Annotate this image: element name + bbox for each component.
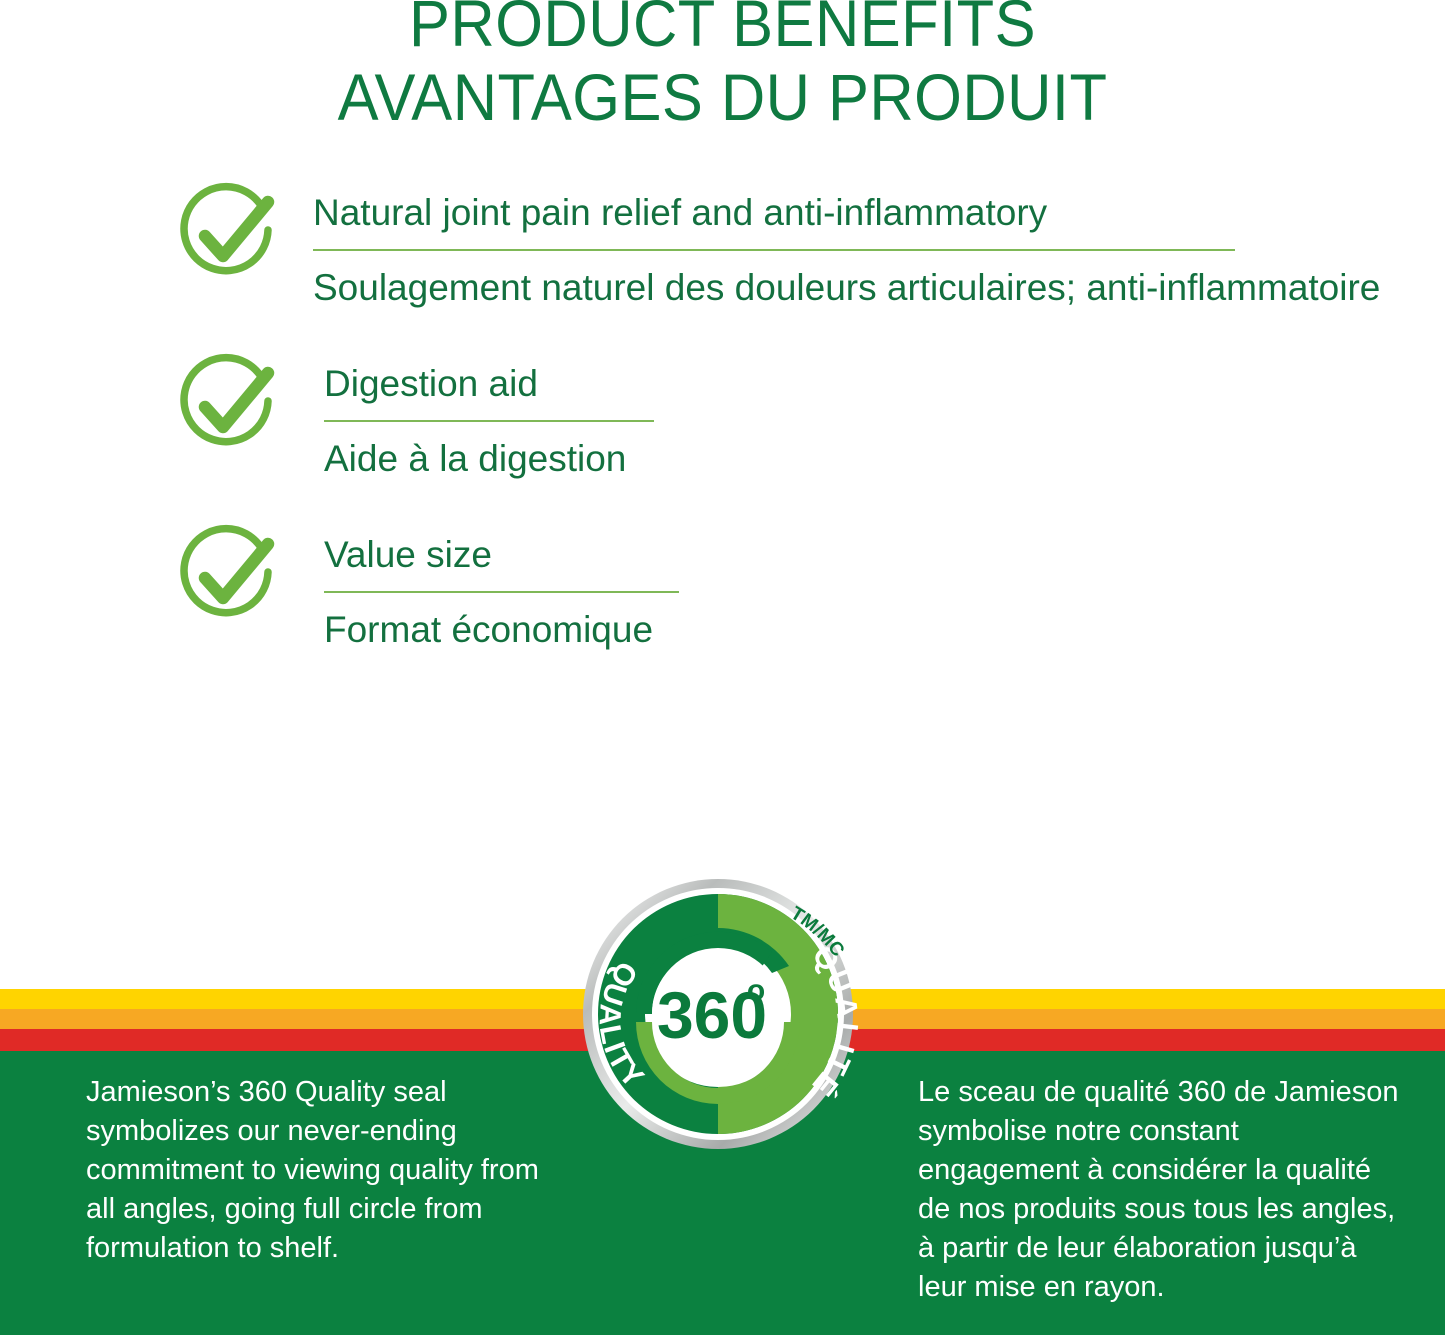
benefit-text: Digestion aid Aide à la digestion <box>284 351 1445 484</box>
benefit-label-fr: Format économique <box>324 605 1445 655</box>
benefit-item: Natural joint pain relief and anti-infla… <box>0 180 1445 313</box>
benefits-list: Natural joint pain relief and anti-infla… <box>0 180 1445 673</box>
quality-360-seal: 360 o QUALITY QUALITÉ TM/MC <box>576 872 860 1156</box>
product-benefits-panel: PRODUCT BENEFITS AVANTAGES DU PRODUIT Na… <box>0 0 1445 1335</box>
benefit-divider <box>324 591 679 593</box>
benefit-label-fr: Aide à la digestion <box>324 434 1445 484</box>
benefit-divider <box>313 249 1235 251</box>
benefit-label-fr: Soulagement naturel des douleurs articul… <box>313 263 1445 313</box>
benefit-label-en: Natural joint pain relief and anti-infla… <box>313 190 1445 236</box>
seal-degree-symbol: o <box>747 974 765 1007</box>
seal-description-en: Jamieson’s 360 Quality seal symbolizes o… <box>86 1073 566 1268</box>
title-line-fr: AVANTAGES DU PRODUIT <box>51 60 1395 134</box>
check-circle-icon <box>176 524 284 632</box>
benefit-text: Natural joint pain relief and anti-infla… <box>284 180 1445 313</box>
check-circle-icon <box>176 353 284 461</box>
benefit-label-en: Digestion aid <box>324 361 1445 407</box>
seal-description-fr: Le sceau de qualité 360 de Jamieson symb… <box>918 1073 1408 1307</box>
benefit-divider <box>324 420 654 422</box>
check-circle-icon <box>176 182 284 290</box>
page-title: PRODUCT BENEFITS AVANTAGES DU PRODUIT <box>0 0 1445 134</box>
title-line-en: PRODUCT BENEFITS <box>51 0 1395 60</box>
benefit-label-en: Value size <box>324 532 1445 578</box>
benefit-item: Value size Format économique <box>0 522 1445 655</box>
benefit-text: Value size Format économique <box>284 522 1445 655</box>
benefit-item: Digestion aid Aide à la digestion <box>0 351 1445 484</box>
